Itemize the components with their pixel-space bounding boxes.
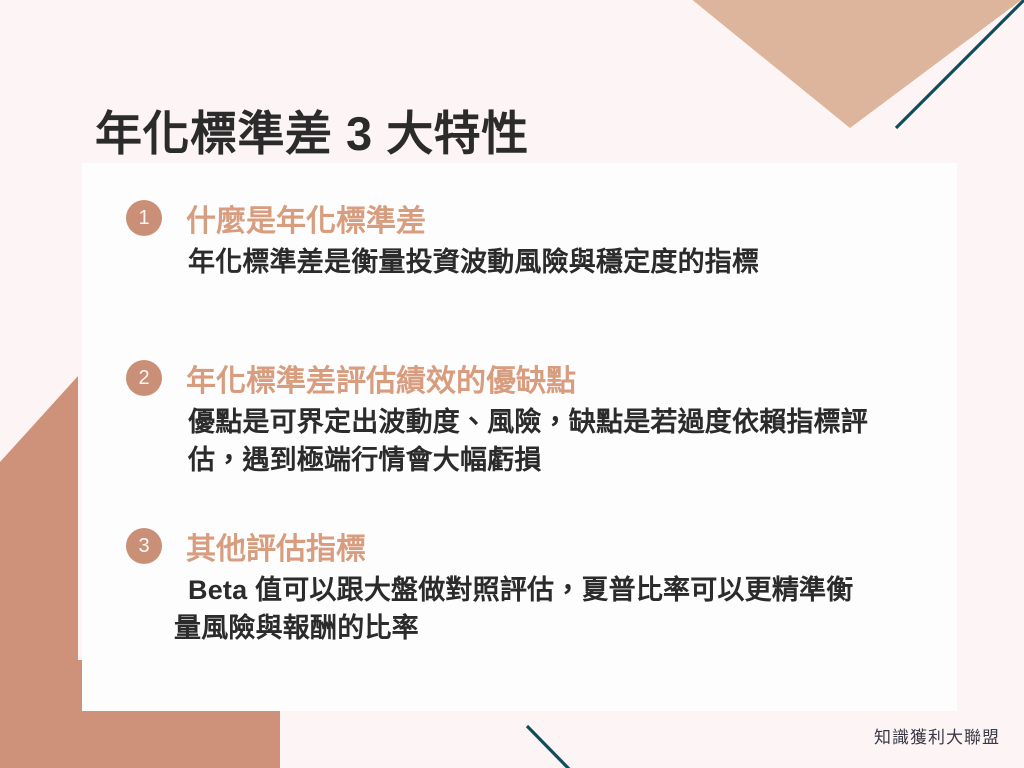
slide-canvas: 年化標準差 3 大特性 1 什麼是年化標準差 年化標準差是衡量投資波動風險與穩定…: [0, 0, 1024, 768]
list-item-title: 年化標準差評估績效的優缺點: [186, 356, 576, 400]
list-item-body: Beta 值可以跟大盤做對照評估，夏普比率可以更精準衡量風險與報酬的比率: [174, 571, 874, 648]
list-item: 3 其他評估指標 Beta 值可以跟大盤做對照評估，夏普比率可以更精準衡量風險與…: [126, 525, 926, 675]
downward-triangle-shape: [690, 0, 1024, 128]
list-item: 1 什麼是年化標準差 年化標準差是衡量投資波動風險與穩定度的指標: [126, 197, 926, 308]
diagonal-line-top-right-shape: [880, 0, 1024, 135]
list-item-title: 什麼是年化標準差: [186, 196, 426, 240]
diagonal-line-bottom-center-shape: [510, 712, 590, 768]
number-badge-icon: 3: [126, 528, 162, 564]
list-item-header: 1 什麼是年化標準差: [126, 197, 926, 239]
list-item-header: 2 年化標準差評估績效的優缺點: [126, 357, 926, 399]
list-item-body: 年化標準差是衡量投資波動風險與穩定度的指標: [188, 243, 888, 281]
list-item: 2 年化標準差評估績效的優缺點 優點是可界定出波動度、風險，缺點是若過度依賴指標…: [126, 357, 926, 507]
list-item-title: 其他評估指標: [186, 524, 366, 568]
list-item-body: 優點是可界定出波動度、風險，缺點是若過度依賴指標評估，遇到極端行情會大幅虧損: [188, 403, 888, 480]
number-badge-icon: 1: [126, 200, 162, 236]
content-card: 1 什麼是年化標準差 年化標準差是衡量投資波動風險與穩定度的指標 2 年化標準差…: [82, 163, 957, 711]
footer-brand: 知識獲利大聯盟: [874, 723, 1000, 748]
number-badge-icon: 2: [126, 360, 162, 396]
list-item-header: 3 其他評估指標: [126, 525, 926, 567]
page-title: 年化標準差 3 大特性: [95, 108, 529, 160]
